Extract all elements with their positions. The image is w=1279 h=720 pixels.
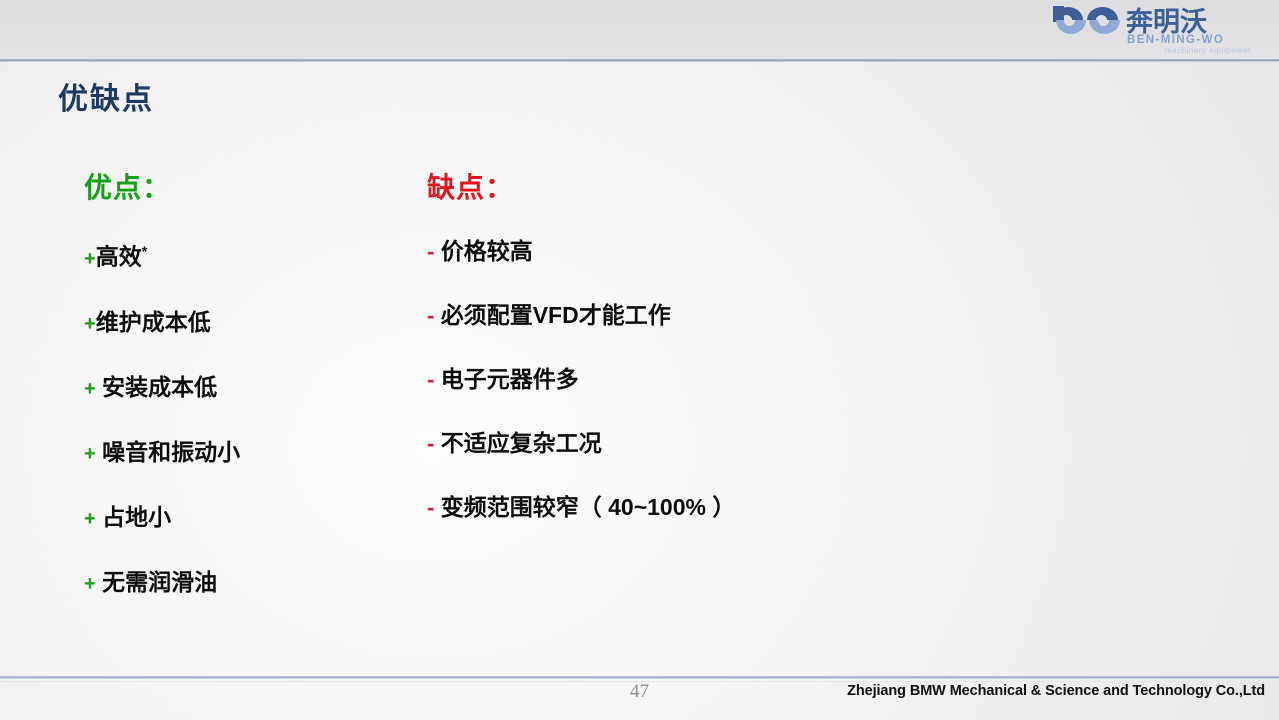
plus-marker-icon: +: [84, 244, 96, 274]
logo-graphic: 奔明沃 BEN-MING-WO machinery equipment: [1043, 4, 1265, 56]
list-item: +高效*: [84, 236, 424, 274]
list-item: +维护成本低: [84, 307, 424, 339]
plus-marker-icon: +: [84, 309, 96, 339]
page-title: 优缺点: [58, 80, 154, 120]
list-item-label: 噪音和振动小: [96, 439, 240, 465]
pros-heading: 优点：: [84, 168, 424, 208]
plus-marker-icon: +: [84, 569, 96, 599]
list-item-label: 价格较高: [434, 238, 532, 264]
plus-marker-icon: +: [84, 439, 96, 469]
list-item: - 必须配置VFD才能工作: [427, 300, 1027, 331]
list-item: + 无需润滑油: [84, 567, 424, 599]
list-item-label: 占地小: [96, 504, 171, 530]
cons-column: 缺点： - 价格较高 - 必须配置VFD才能工作 - 电子元器件多 - 不适应复…: [427, 168, 1027, 556]
list-item: - 不适应复杂工况: [427, 428, 1027, 459]
list-item-label: 变频范围较窄（ 40~100% ）: [434, 494, 735, 520]
company-logo: 奔明沃 BEN-MING-WO machinery equipment: [1043, 4, 1265, 56]
slide-canvas: 奔明沃 BEN-MING-WO machinery equipment 优缺点 …: [0, 0, 1279, 720]
list-item: - 电子元器件多: [427, 364, 1027, 395]
footer-company-name: Zhejiang BMW Mechanical & Science and Te…: [847, 680, 1265, 702]
plus-marker-icon: +: [84, 374, 96, 404]
cons-heading: 缺点：: [427, 168, 1027, 208]
plus-marker-icon: +: [84, 504, 96, 534]
footnote-asterisk: *: [142, 243, 147, 259]
list-item: - 变频范围较窄（ 40~100% ）: [427, 492, 1027, 523]
list-item: + 占地小: [84, 502, 424, 534]
list-item-label: 无需润滑油: [96, 569, 217, 595]
list-item-label: 不适应复杂工况: [434, 430, 601, 456]
cons-list: - 价格较高 - 必须配置VFD才能工作 - 电子元器件多 - 不适应复杂工况 …: [427, 236, 1027, 523]
list-item: + 噪音和振动小: [84, 437, 424, 469]
logo-pinyin: BEN-MING-WO: [1127, 34, 1224, 46]
list-item: - 价格较高: [427, 236, 1027, 267]
header-divider-rule: [0, 59, 1279, 62]
list-item-label: 电子元器件多: [434, 366, 578, 392]
list-item-label: 维护成本低: [96, 309, 211, 335]
list-item-label: 安装成本低: [96, 374, 217, 400]
pros-column: 优点： +高效* +维护成本低 + 安装成本低 + 噪音和振动小 + 占地小 +…: [84, 168, 424, 599]
list-item: + 安装成本低: [84, 372, 424, 404]
logo-tagline: machinery equipment: [1165, 46, 1251, 55]
list-item-label: 必须配置VFD才能工作: [434, 302, 670, 328]
list-item-label: 高效: [96, 244, 142, 270]
pros-list: +高效* +维护成本低 + 安装成本低 + 噪音和振动小 + 占地小 + 无需润…: [84, 236, 424, 599]
